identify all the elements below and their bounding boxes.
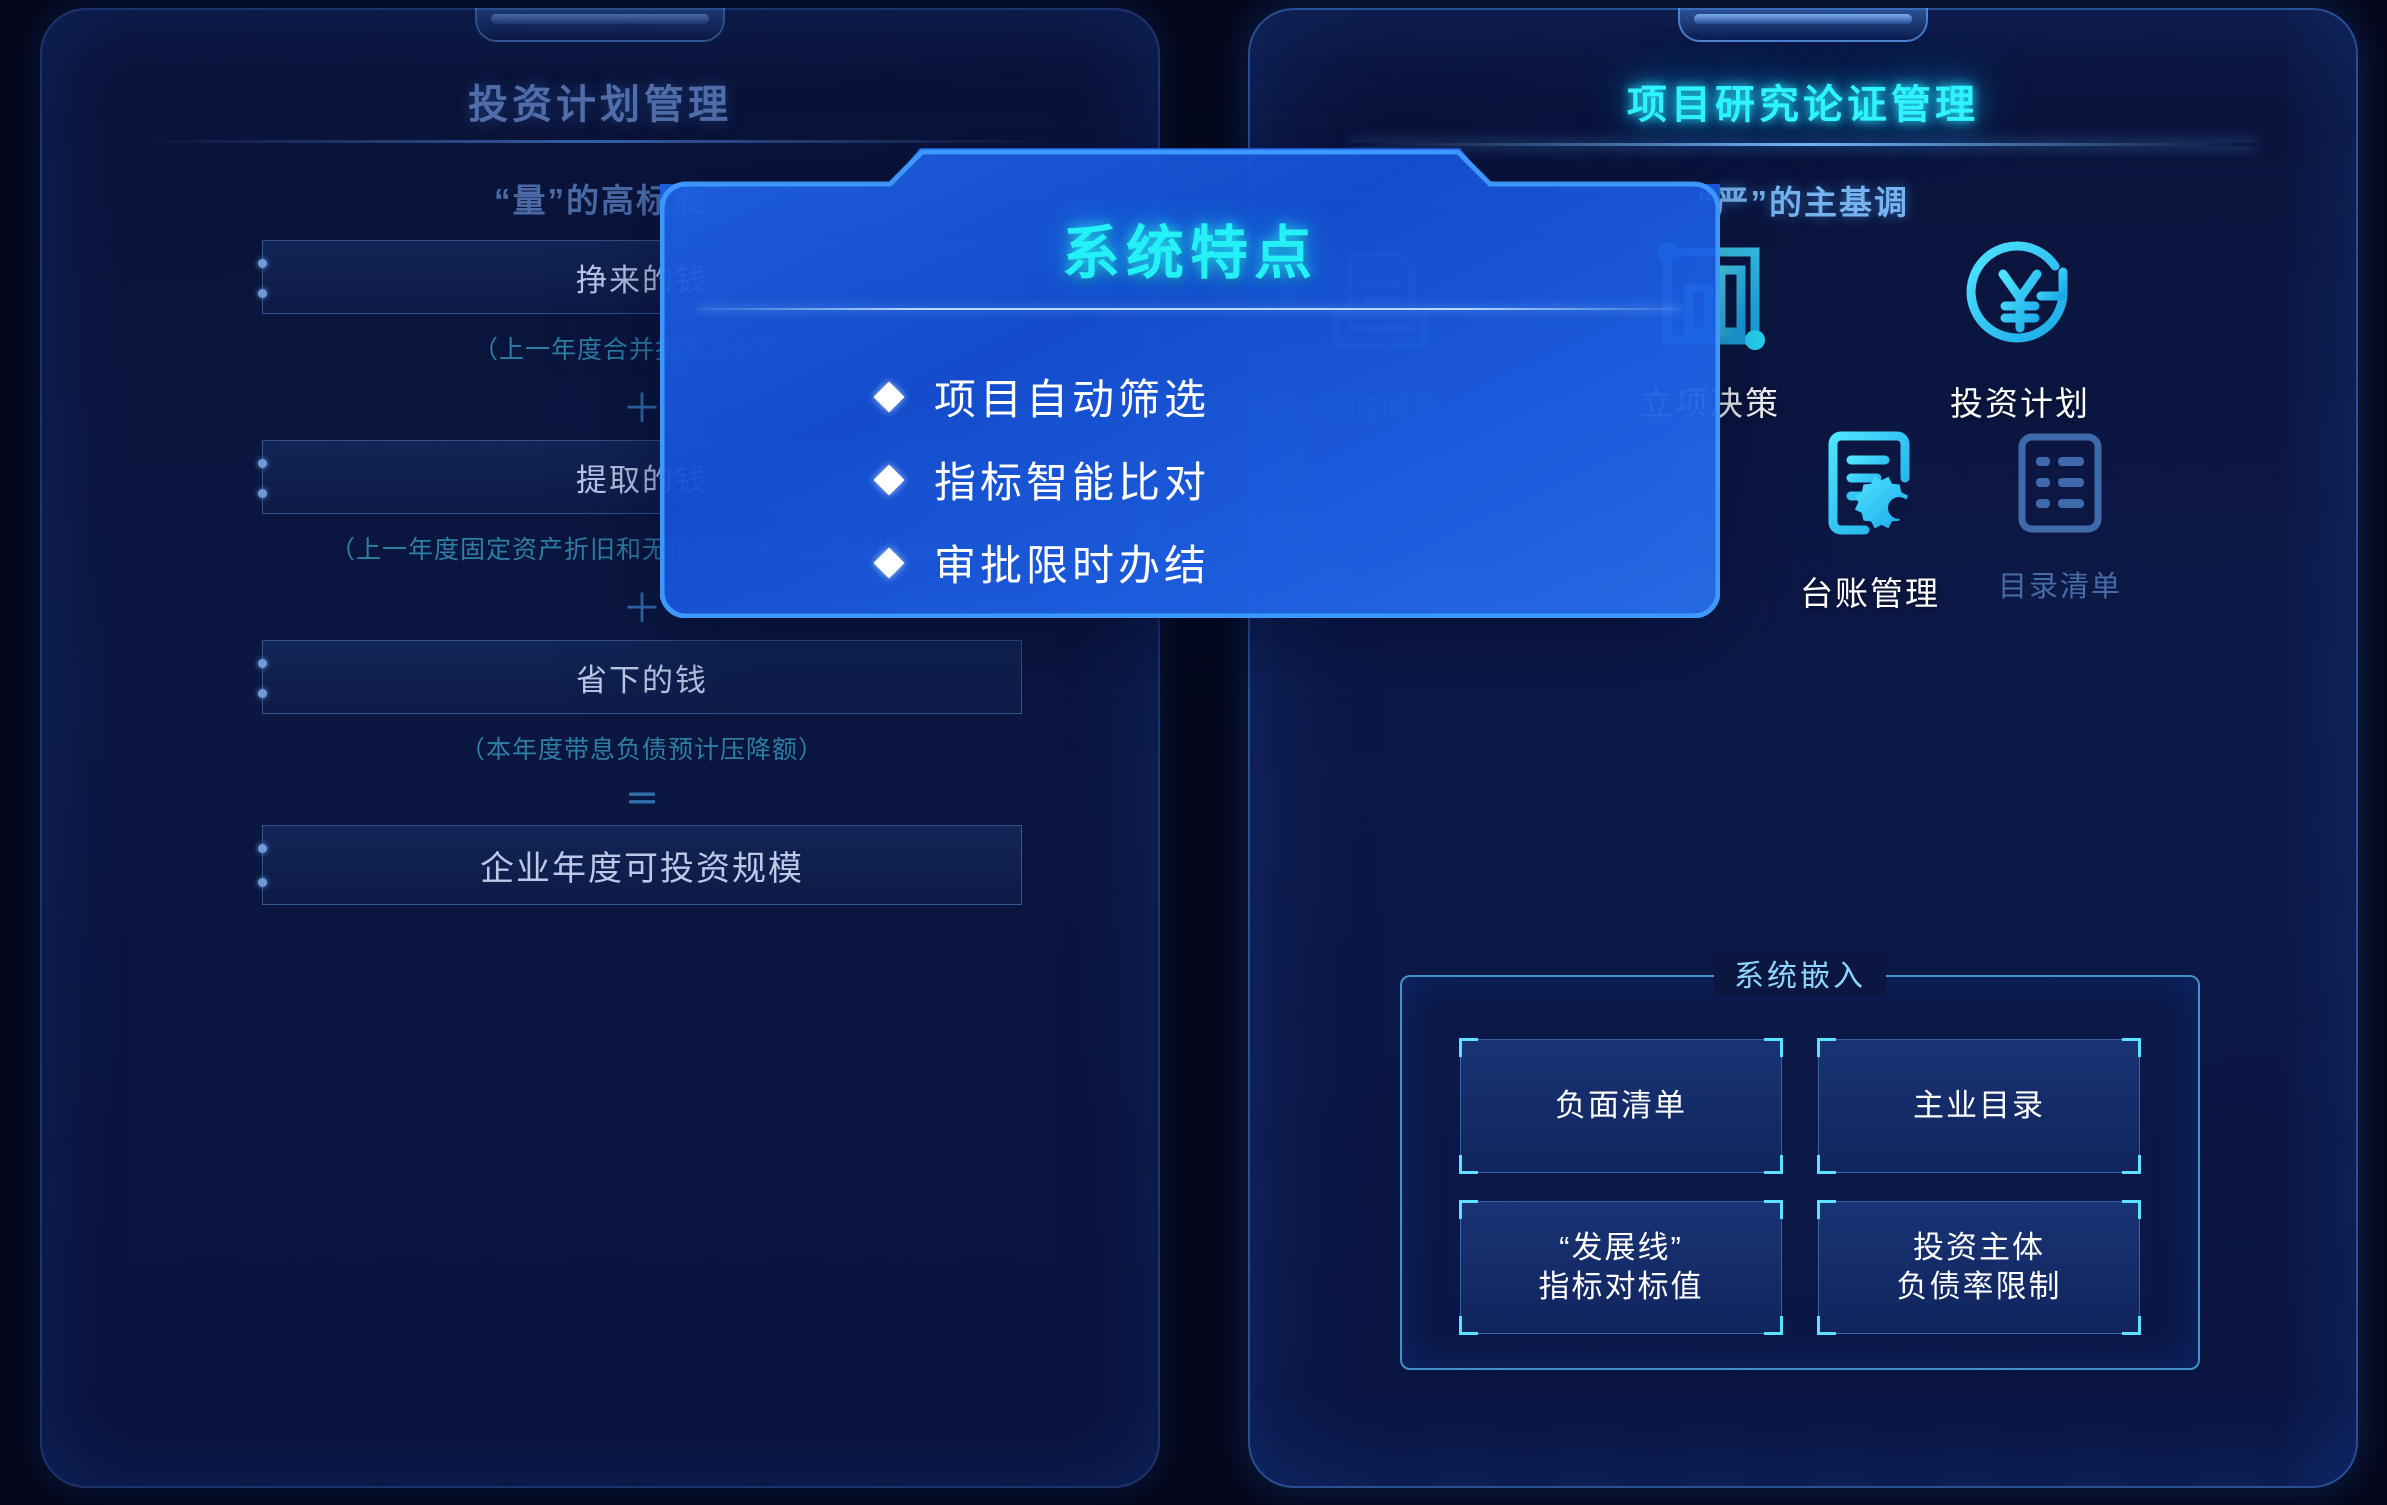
embed-box-line1: 投资主体 — [1897, 1228, 2062, 1268]
embed-box-negative-list[interactable]: 负面清单 — [1460, 1039, 1782, 1173]
formula-box-4: 企业年度可投资规模 — [262, 825, 1022, 905]
connector-dot — [258, 844, 267, 853]
connector-dot — [258, 878, 267, 887]
icon-tile-label: 投资计划 — [1890, 377, 2150, 425]
yen-refresh-icon — [1955, 232, 2085, 362]
diamond-bullet-icon — [873, 381, 904, 412]
right-panel-title: 项目研究论证管理 — [1250, 72, 2356, 130]
embed-box-line1: 主业目录 — [1913, 1086, 2045, 1126]
system-embed-group: 系统嵌入 负面清单 主业目录 “发展线” 指标对标值 投资主体 负债率限制 — [1400, 975, 2200, 1370]
panel-notch-right — [1678, 8, 1928, 42]
left-panel-title: 投资计划管理 — [42, 72, 1158, 130]
checklist-icon — [2000, 425, 2120, 550]
card-feature-list: 项目自动筛选 指标智能比对 审批限时办结 — [878, 366, 1210, 615]
embed-box-line2: 指标对标值 — [1539, 1267, 1704, 1307]
panel-notch-left — [475, 8, 725, 42]
diamond-bullet-icon — [873, 547, 904, 578]
card-title: 系统特点 — [660, 206, 1720, 290]
icon-tile-label: 台账管理 — [1740, 567, 2000, 615]
right-title-divider — [1350, 143, 2257, 146]
formula-note-3: （本年度带息负债预计压降额） — [232, 730, 1052, 766]
embed-box-development-line[interactable]: “发展线” 指标对标值 — [1460, 1201, 1782, 1335]
embed-box-line1: “发展线” — [1539, 1228, 1704, 1268]
feature-item: 项目自动筛选 — [878, 366, 1210, 427]
icon-tile-ledger-management[interactable]: 台账管理 — [1740, 422, 2000, 615]
formula-operator-3: ＝ — [232, 772, 1052, 821]
formula-box-3: 省下的钱 — [262, 640, 1022, 714]
connector-dot — [258, 259, 267, 268]
feature-label: 指标智能比对 — [934, 449, 1210, 510]
connector-dot — [258, 459, 267, 468]
system-embed-grid: 负面清单 主业目录 “发展线” 指标对标值 投资主体 负债率限制 — [1460, 1039, 2140, 1334]
embed-box-main-business-catalog[interactable]: 主业目录 — [1818, 1039, 2140, 1173]
formula-box-label: 企业年度可投资规模 — [480, 841, 804, 890]
embed-box-line1: 负面清单 — [1555, 1086, 1687, 1126]
embed-box-line2: 负债率限制 — [1897, 1267, 2062, 1307]
connector-dot — [258, 489, 267, 498]
system-features-card: 系统特点 项目自动筛选 指标智能比对 审批限时办结 — [660, 148, 1720, 618]
connector-dot — [258, 289, 267, 298]
formula-box-label: 省下的钱 — [576, 655, 708, 700]
feature-label: 审批限时办结 — [934, 532, 1210, 593]
feature-label: 项目自动筛选 — [934, 366, 1210, 427]
diamond-bullet-icon — [873, 464, 904, 495]
card-title-divider — [698, 308, 1682, 310]
embed-box-investor-debt-limit[interactable]: 投资主体 负债率限制 — [1818, 1201, 2140, 1335]
connector-dot — [258, 659, 267, 668]
left-title-divider — [142, 140, 1057, 143]
connector-dot — [258, 689, 267, 698]
ledger-gear-icon — [1805, 422, 1935, 552]
feature-item: 指标智能比对 — [878, 449, 1210, 510]
icon-tile-investment-plan[interactable]: 投资计划 — [1890, 232, 2150, 425]
system-embed-legend: 系统嵌入 — [1714, 951, 1886, 995]
feature-item: 审批限时办结 — [878, 532, 1210, 593]
